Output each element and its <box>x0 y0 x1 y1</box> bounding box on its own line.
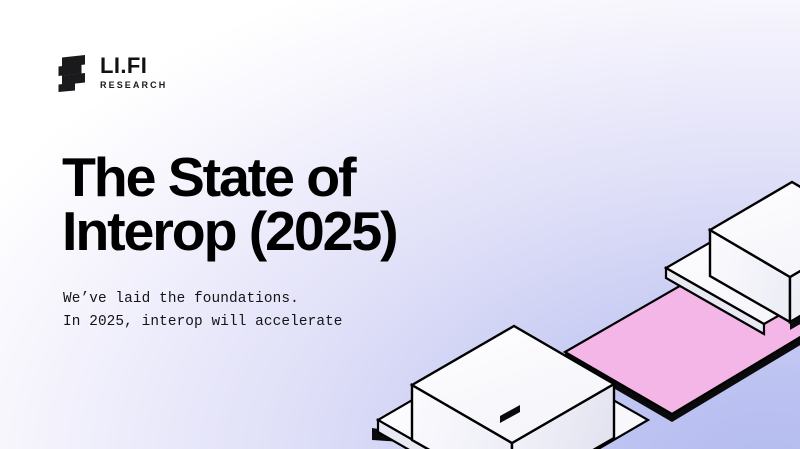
box-slot-detail <box>500 405 520 423</box>
destination-chain-box <box>666 182 800 334</box>
bridge-data-pattern <box>676 173 800 369</box>
page-title: The State of Interop (2025) <box>62 150 397 259</box>
report-cover: LI.FI RESEARCH The State of Interop (202… <box>0 0 800 449</box>
origin-chain-box <box>372 326 648 449</box>
brand-wordmark: LI.FI RESEARCH <box>100 55 167 90</box>
page-subtitle: We’ve laid the foundations. In 2025, int… <box>63 288 343 335</box>
brand-lockup[interactable]: LI.FI RESEARCH <box>57 54 167 92</box>
brand-name: LI.FI <box>100 55 167 77</box>
interop-bridge <box>565 173 800 423</box>
lifi-logo-icon <box>57 54 89 92</box>
brand-division: RESEARCH <box>100 81 167 91</box>
